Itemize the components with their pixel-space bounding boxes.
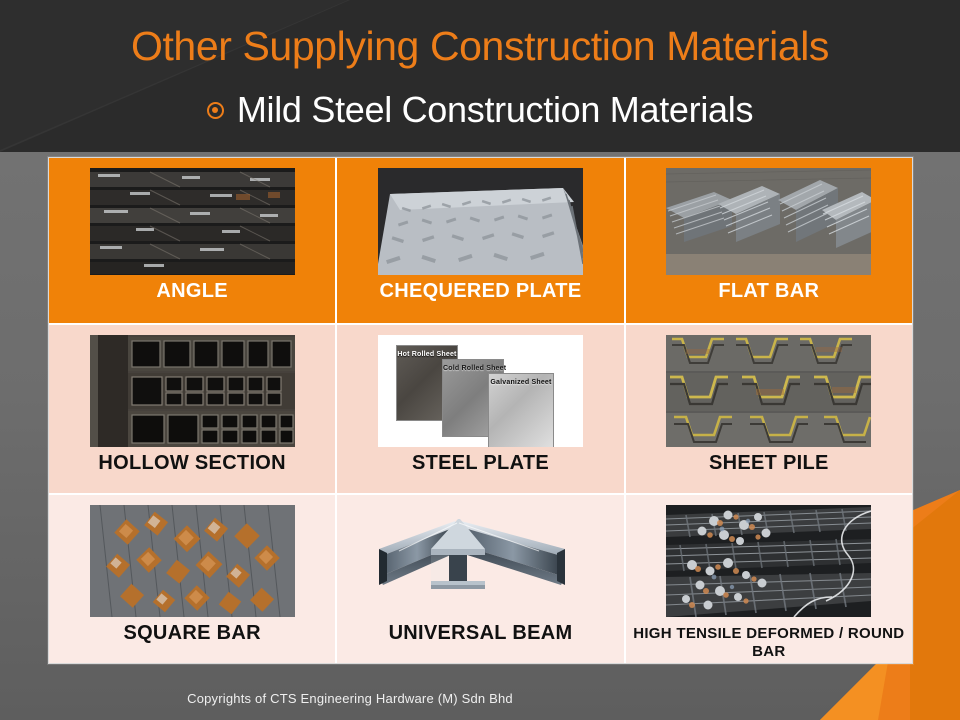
slide: Other Supplying Construction Materials M…: [0, 0, 960, 720]
chequered-plate-photo: [378, 168, 583, 275]
table-row: HOLLOW SECTION Hot Rolled Sheet Cold Rol…: [49, 325, 912, 495]
steel-angle-stack-photo: [90, 168, 295, 275]
material-cell-universal-beam[interactable]: UNIVERSAL BEAM: [337, 495, 625, 663]
material-cell-flat-bar[interactable]: FLAT BAR: [626, 158, 912, 325]
material-cell-chequered-plate[interactable]: CHEQUERED PLATE: [337, 158, 625, 325]
target-bullet-icon: [207, 102, 224, 119]
material-label: HOLLOW SECTION: [94, 453, 290, 475]
copyright-footer: Copyrights of CTS Engineering Hardware (…: [0, 691, 700, 706]
material-cell-steel-plate[interactable]: Hot Rolled Sheet Cold Rolled Sheet Galva…: [337, 325, 625, 495]
subtitle: Mild Steel Construction Materials: [237, 92, 753, 128]
material-label: SQUARE BAR: [119, 623, 264, 645]
material-label: HIGH TENSILE DEFORMED / ROUND BAR: [626, 625, 912, 660]
material-label: CHEQUERED PLATE: [376, 281, 586, 303]
flat-bar-bundles-photo: [666, 168, 871, 275]
page-title: Other Supplying Construction Materials: [0, 26, 960, 67]
sheet-pile-stack-photo: [666, 335, 871, 447]
material-cell-high-tensile-bar[interactable]: HIGH TENSILE DEFORMED / ROUND BAR: [626, 495, 912, 663]
subtitle-row: Mild Steel Construction Materials: [0, 92, 960, 128]
material-label: SHEET PILE: [705, 453, 833, 475]
material-cell-square-bar[interactable]: SQUARE BAR: [49, 495, 337, 663]
hollow-section-tubes-photo: [90, 335, 295, 447]
sheet-label: Cold Rolled Sheet: [443, 365, 503, 372]
materials-table: ANGLE: [48, 157, 913, 664]
material-cell-sheet-pile[interactable]: SHEET PILE: [626, 325, 912, 495]
material-cell-hollow-section[interactable]: HOLLOW SECTION: [49, 325, 337, 495]
universal-beam-photo: [369, 505, 591, 617]
square-bar-stack-photo: [90, 505, 295, 617]
material-label: ANGLE: [152, 281, 232, 303]
table-row: SQUARE BAR: [49, 495, 912, 663]
table-row: ANGLE: [49, 158, 912, 325]
galvanized-sheet: Galvanized Sheet: [488, 373, 554, 447]
sheet-label: Hot Rolled Sheet: [397, 351, 457, 358]
steel-plate-sheets-photo: Hot Rolled Sheet Cold Rolled Sheet Galva…: [378, 335, 583, 447]
material-label: UNIVERSAL BEAM: [385, 623, 577, 645]
material-label: STEEL PLATE: [408, 453, 553, 475]
material-cell-angle[interactable]: ANGLE: [49, 158, 337, 325]
sheet-label: Galvanized Sheet: [489, 379, 553, 386]
deformed-rebar-photo: [666, 505, 871, 617]
material-label: FLAT BAR: [714, 281, 823, 303]
